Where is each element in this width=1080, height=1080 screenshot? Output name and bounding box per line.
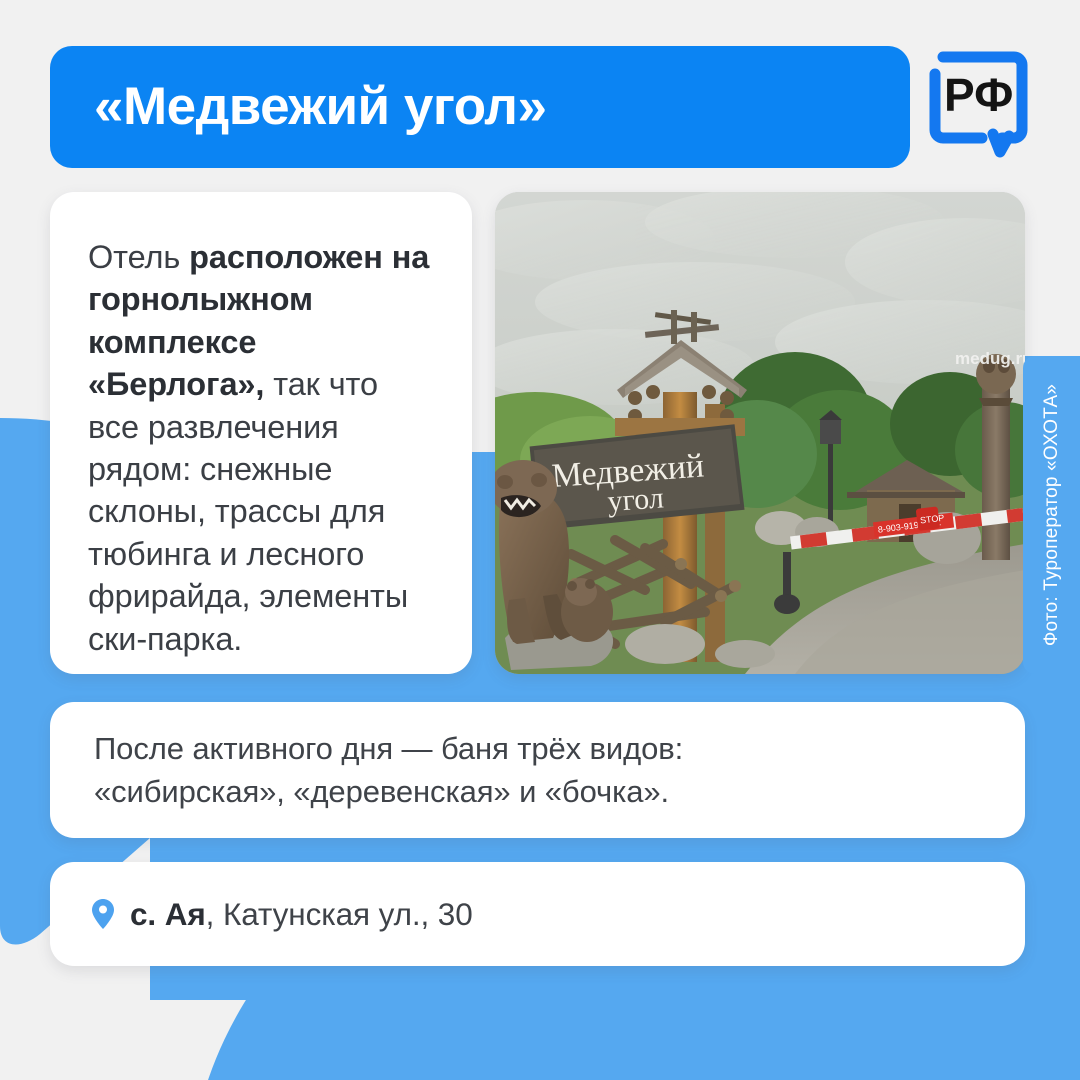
logo-letters: РФ (944, 69, 1013, 121)
intro-text-part-1: Отель (88, 239, 189, 275)
title-bar: «Медвежий угол» (50, 46, 910, 168)
location-pin-icon (92, 899, 114, 929)
header: «Медвежий угол» РФ (50, 46, 1030, 168)
note-line-2: «сибирская», «деревенская» и «бочка». (94, 774, 669, 809)
note-card: После активного дня — баня трёх видов:«с… (50, 702, 1025, 838)
intro-text-card: Отель расположен на горнолыжном комплекс… (50, 192, 472, 674)
rf-speech-bubble-logo[interactable]: РФ (926, 48, 1030, 160)
address-card: с. Ая, Катунская ул., 30 (50, 862, 1025, 966)
address-rest: , Катунская ул., 30 (206, 896, 473, 932)
note-line-1: После активного дня — баня трёх видов: (94, 731, 683, 766)
photo-watermark: medug.ru (955, 349, 1025, 368)
photo-credit-strip: Фото: Туроператор «ОХОТА» (1023, 356, 1080, 674)
medvezhiy-ugol-entrance-photo: Медвежий угол (495, 192, 1025, 674)
photo-sign-line-2: угол (606, 481, 664, 518)
note-paragraph: После активного дня — баня трёх видов:«с… (94, 727, 683, 814)
page-title: «Медвежий угол» (94, 79, 546, 135)
address-text: с. Ая, Катунская ул., 30 (130, 896, 473, 933)
intro-paragraph: Отель расположен на горнолыжном комплекс… (88, 236, 432, 660)
photo-credit-text: Фото: Туроператор «ОХОТА» (1041, 384, 1063, 646)
address-line: с. Ая, Катунская ул., 30 (92, 896, 473, 933)
address-locality: с. Ая (130, 896, 206, 932)
intro-text-part-2: так что все развлечения рядом: снежные с… (88, 366, 408, 656)
